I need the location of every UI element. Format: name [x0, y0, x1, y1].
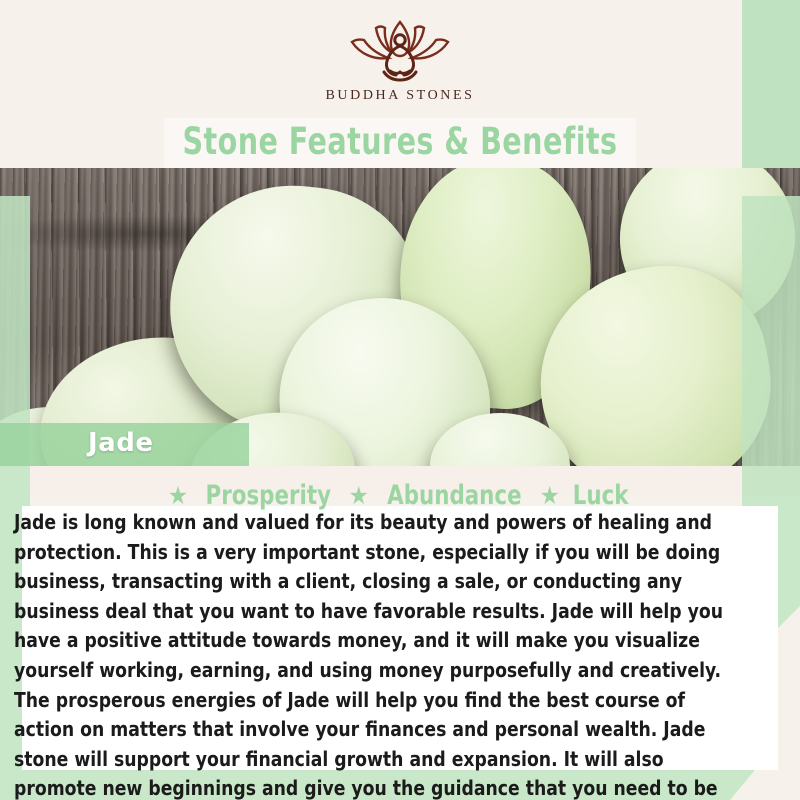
keyword-luck: Luck: [573, 480, 629, 511]
jade-stones-photo: [0, 168, 800, 466]
keyword-abundance: Abundance: [387, 480, 521, 511]
star-icon: ★: [540, 483, 560, 508]
star-icon: ★: [168, 483, 188, 508]
description-text: Jade is long known and valued for its be…: [14, 508, 745, 800]
page-title: Stone Features & Benefits: [56, 120, 744, 163]
brand-header: BUDDHA STONES: [0, 0, 800, 120]
star-icon: ★: [349, 483, 369, 508]
stone-info-card: BUDDHA STONES Stone Features & Benefits …: [0, 0, 800, 800]
decor-band-right-middle: [742, 196, 800, 496]
keyword-prosperity: Prosperity: [206, 480, 331, 511]
stone-name-label: Jade: [88, 428, 153, 458]
keyword-list: ★ Prosperity ★ Abundance ★ Luck: [0, 478, 800, 512]
brand-wordmark: BUDDHA STONES: [325, 88, 474, 104]
lotus-meditation-icon: [334, 16, 466, 84]
